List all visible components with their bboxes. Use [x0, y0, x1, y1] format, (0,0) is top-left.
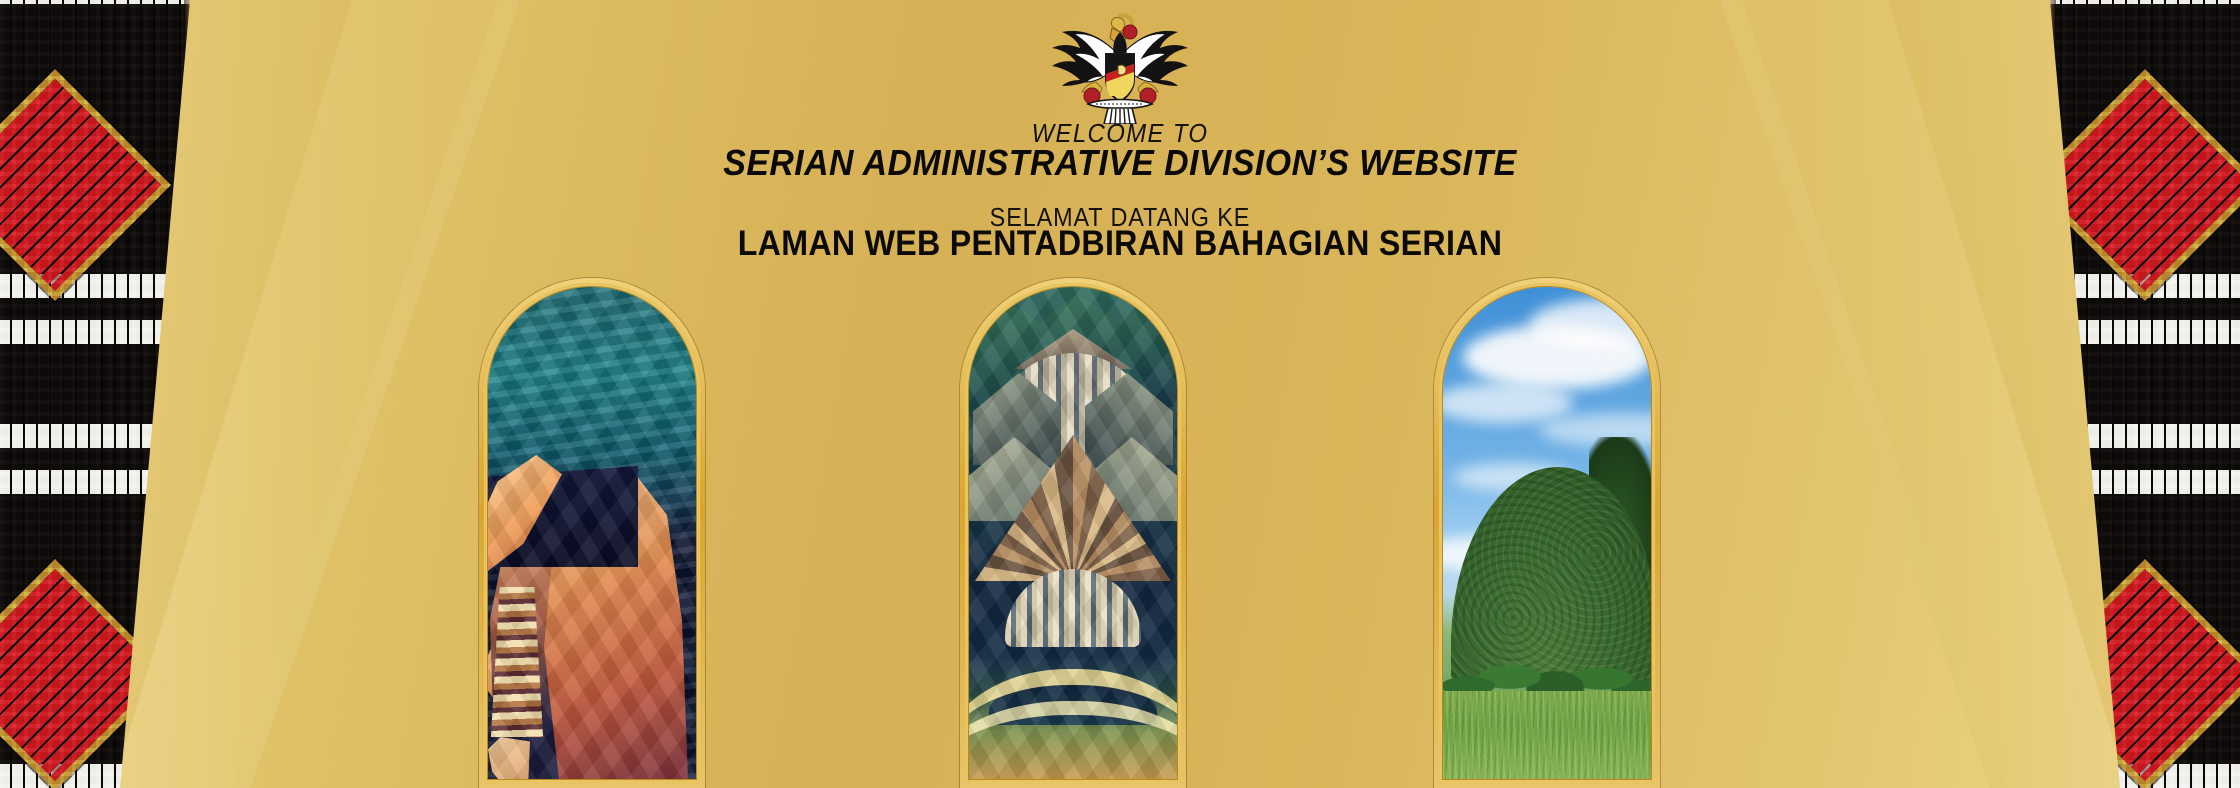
arch-frame-2	[965, 283, 1181, 783]
arch-frame-3	[1439, 283, 1655, 783]
page-title-english: SERIAN ADMINISTRATIVE DIVISION’S WEBSITE	[67, 142, 2173, 184]
arch-image-building[interactable]	[960, 278, 1186, 788]
arch-artwork-dancers	[488, 287, 696, 779]
welcome-banner: WELCOME TO SERIAN ADMINISTRATIVE DIVISIO…	[0, 0, 2240, 788]
sarawak-state-crest-icon	[1040, 6, 1200, 124]
arch-image-dancers[interactable]	[479, 278, 705, 788]
arch-artwork-building	[969, 287, 1177, 779]
arch-image-hill[interactable]	[1434, 278, 1660, 788]
arch-frame-1	[484, 283, 700, 783]
arch-photo-hill	[1443, 287, 1651, 779]
page-title-malay: LAMAN WEB PENTADBIRAN BAHAGIAN SERIAN	[90, 224, 2151, 264]
